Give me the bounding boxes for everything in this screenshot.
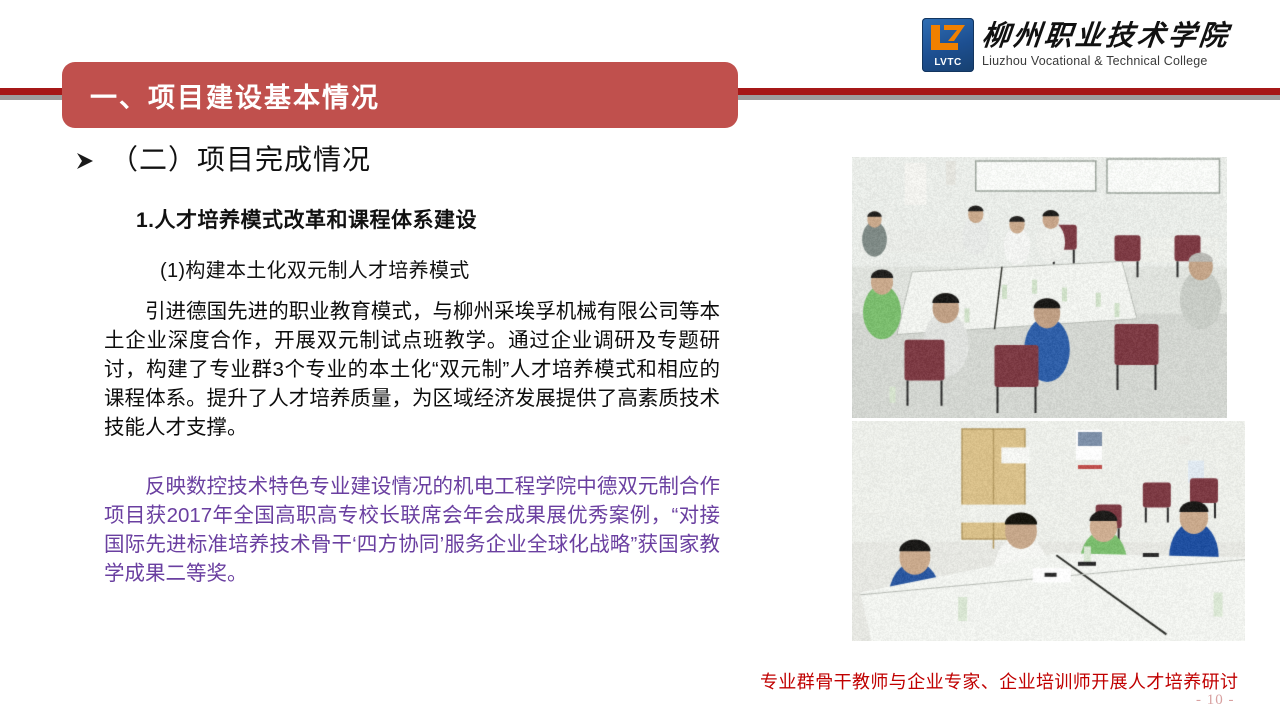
section-heading-row: （二）项目完成情况	[74, 138, 790, 178]
section-title-text: 一、项目建设基本情况	[90, 76, 380, 115]
photo-caption: 专业群骨干教师与企业专家、企业培训师开展人才培养研讨	[760, 668, 1260, 694]
triangle-arrow-icon	[74, 150, 96, 172]
meeting-photo-top	[852, 157, 1227, 418]
content-column: （二）项目完成情况 1.人才培养模式改革和课程体系建设 (1)构建本土化双元制人…	[0, 138, 790, 698]
meeting-photo-bottom	[852, 421, 1245, 641]
meeting-photo-top-canvas	[852, 157, 1227, 418]
institution-logo: LVTC 柳州职业技术学院 Liuzhou Vocational & Techn…	[922, 14, 1242, 76]
section-title-banner: 一、项目建设基本情况	[62, 62, 738, 128]
logo-english-name: Liuzhou Vocational & Technical College	[982, 55, 1230, 68]
logo-text-block: 柳州职业技术学院 Liuzhou Vocational & Technical …	[982, 23, 1230, 68]
lvtc-logo-mark: LVTC	[922, 18, 974, 72]
page-number: - 10 -	[1196, 692, 1235, 709]
paragraph-black: 引进德国先进的职业教育模式，与柳州采埃孚机械有限公司等本土企业深度合作，开展双元…	[104, 297, 720, 442]
slide-canvas: LVTC 柳州职业技术学院 Liuzhou Vocational & Techn…	[0, 0, 1280, 720]
lv-monogram-icon	[928, 23, 968, 53]
paragraph-purple: 反映数控技术特色专业建设情况的机电工程学院中德双元制合作项目获2017年全国高职…	[104, 472, 720, 588]
lvtc-abbrev: LVTC	[922, 57, 974, 68]
item-heading: (1)构建本土化双元制人才培养模式	[160, 254, 790, 283]
logo-chinese-name: 柳州职业技术学院	[981, 23, 1232, 51]
section-heading-text: （二）项目完成情况	[110, 138, 371, 178]
meeting-photo-bottom-canvas	[852, 421, 1245, 641]
sub-heading: 1.人才培养模式改革和课程体系建设	[136, 204, 790, 234]
